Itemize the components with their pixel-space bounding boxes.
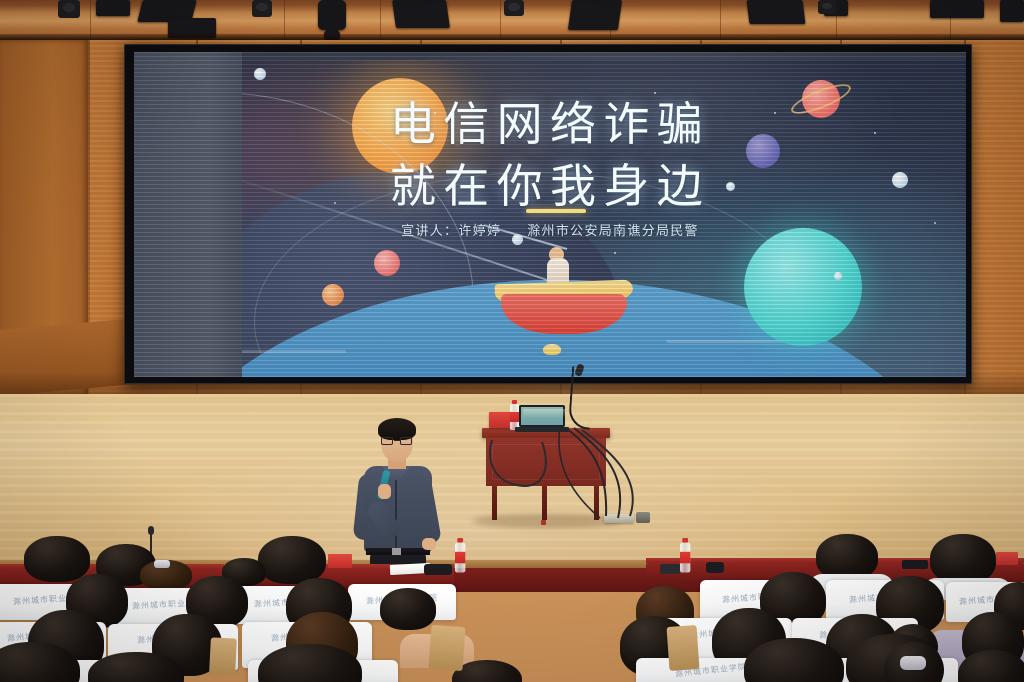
lecture-hall-photo: 电信网络诈骗 就在你我身边 宣讲人：许婷婷滁州市公安局南谯分局民警 [0, 0, 1024, 682]
stage-light [96, 0, 130, 16]
rowboat-group [489, 252, 639, 348]
audience-seating-area: 滁州城市职业学院 滁州城市职业学院 滁州城市职业学院 滁州城市职业学院 滁州城市… [0, 530, 1024, 682]
audience-head [258, 536, 326, 584]
hair-clip [154, 560, 170, 568]
bottle-label [510, 412, 519, 422]
notebook-on-desk [424, 564, 452, 575]
teal-planet [744, 228, 862, 346]
boat-hull-lower [501, 294, 627, 334]
presenter-hand-holding-mic [378, 484, 391, 499]
panel-light [568, 0, 622, 30]
moonlet [254, 68, 266, 80]
chair-wood-back [209, 637, 237, 674]
panel-light [392, 0, 450, 28]
slide-title-line1: 电信网络诈骗 [134, 88, 966, 154]
glasses-case-on-desk [660, 564, 680, 574]
ceiling-speaker [818, 0, 836, 14]
moonlet [834, 272, 842, 280]
ceiling-speaker [252, 0, 272, 17]
screen-unlit-top-band [242, 52, 966, 60]
audience-name-plate [996, 552, 1018, 565]
panel-light [747, 0, 806, 24]
object-on-desk [706, 562, 724, 573]
projection-screen: 电信网络诈骗 就在你我身边 宣讲人：许婷婷滁州市公安局南谯分局民警 [134, 52, 966, 377]
slide-subtitle: 宣讲人：许婷婷滁州市公安局南谯分局民警 [134, 220, 966, 239]
slide-presenter-label: 宣讲人： [401, 223, 458, 238]
laptop-screen-glare [523, 409, 565, 418]
chair-wood-back [667, 625, 700, 671]
gooseneck-microphone-stem [568, 366, 594, 429]
ceiling-speaker [58, 0, 80, 18]
slide-presenter-affiliation: 滁州市公安局南谯分局民警 [527, 223, 699, 238]
eyeglasses-icon [381, 437, 413, 445]
audience-head [24, 536, 90, 582]
boat-float [543, 344, 561, 355]
stage-light [1000, 0, 1024, 22]
cable-bundle [556, 424, 676, 534]
spotlight [318, 0, 346, 30]
phone-on-desk [902, 560, 928, 569]
audience-head [380, 588, 436, 630]
audience-name-plate [328, 554, 352, 568]
orange-planet [322, 284, 344, 306]
panel-light [930, 0, 984, 18]
slide-presenter-name: 许婷婷 [458, 223, 501, 238]
chair-wood-back [429, 625, 466, 671]
floor-marker-red [541, 520, 546, 525]
ceiling-speaker [504, 0, 524, 16]
audience-microphone-head [148, 526, 154, 535]
cable-loop-desk [484, 438, 564, 498]
hair-ornament [900, 656, 926, 670]
bottle-label [680, 552, 690, 564]
bottle-label [455, 552, 465, 564]
pink-planet [374, 250, 400, 276]
audience-head [930, 534, 996, 584]
slide-title-line2: 就在你我身边 [134, 150, 966, 216]
title-underline-accent [526, 209, 586, 213]
